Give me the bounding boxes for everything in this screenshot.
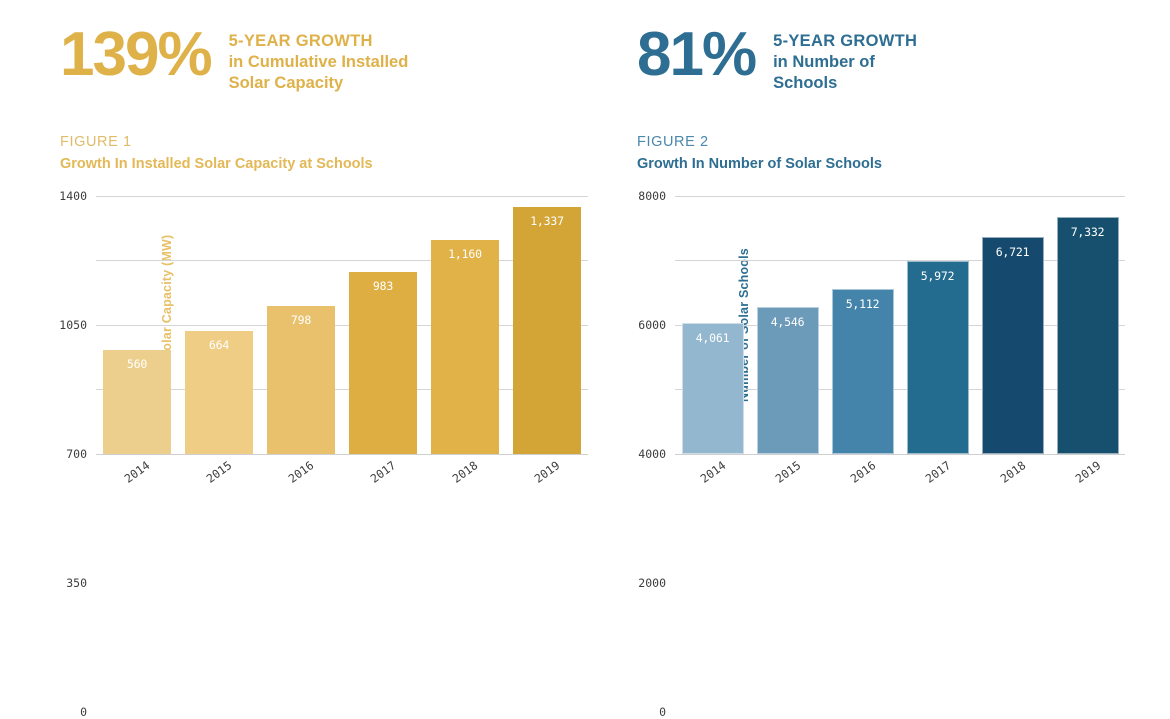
chart-1: Installed Solar Capacity (MW) 0350700105… bbox=[60, 196, 600, 526]
bar-value-label: 983 bbox=[349, 279, 417, 293]
y-axis-tick-label: 4000 bbox=[638, 447, 675, 461]
y-axis-tick-label: 1050 bbox=[59, 318, 96, 332]
bar[interactable]: 4,061 bbox=[682, 323, 744, 454]
bar-slot: 5,9722017 bbox=[900, 196, 975, 454]
figure-caption-2: FIGURE 2 Growth In Number of Solar Schoo… bbox=[637, 104, 1170, 176]
bar-slot: 5602014 bbox=[96, 196, 178, 454]
bar[interactable]: 664 bbox=[185, 331, 253, 453]
bar[interactable]: 1,337 bbox=[513, 207, 581, 453]
bar-slot: 1,1602018 bbox=[424, 196, 506, 454]
y-axis-tick-label: 8000 bbox=[638, 189, 675, 203]
figure-title-2: Growth In Number of Solar Schools bbox=[637, 154, 1170, 176]
bar-value-label: 5,972 bbox=[908, 269, 968, 283]
bar-value-label: 7,332 bbox=[1058, 225, 1118, 239]
bar-value-label: 1,160 bbox=[431, 247, 499, 261]
bar-value-label: 6,721 bbox=[983, 245, 1043, 259]
headline-text-left: 5-YEAR GROWTH in Cumulative Installed So… bbox=[211, 26, 409, 94]
headline-line1: 5-YEAR GROWTH bbox=[773, 31, 917, 52]
x-axis-tick-label: 2015 bbox=[772, 458, 803, 486]
x-axis-tick-label: 2017 bbox=[922, 458, 953, 486]
headline-line3: Schools bbox=[773, 73, 917, 94]
stat-percent-schools: 81% bbox=[637, 26, 755, 85]
headline-line3: Solar Capacity bbox=[229, 73, 409, 94]
y-axis-tick-label: 0 bbox=[80, 705, 96, 719]
bar-slot: 5,1122016 bbox=[825, 196, 900, 454]
y-axis-tick-label: 700 bbox=[66, 447, 96, 461]
bar-slot: 6,7212018 bbox=[975, 196, 1050, 454]
bar[interactable]: 6,721 bbox=[982, 237, 1044, 454]
chart-2: Number of Solar Schools 0200040006000800… bbox=[637, 196, 1137, 526]
bar-value-label: 560 bbox=[103, 357, 171, 371]
bar-series: 56020146642015798201698320171,16020181,3… bbox=[96, 196, 588, 454]
bar-value-label: 798 bbox=[267, 313, 335, 327]
bar-value-label: 4,061 bbox=[683, 331, 743, 345]
headline-right: 81% 5-YEAR GROWTH in Number of Schools bbox=[637, 0, 1170, 104]
bar-value-label: 5,112 bbox=[833, 297, 893, 311]
figure-title-1: Growth In Installed Solar Capacity at Sc… bbox=[60, 154, 615, 176]
headline-line2: in Number of bbox=[773, 52, 917, 73]
infographic-root: 139% 5-YEAR GROWTH in Cumulative Install… bbox=[0, 0, 1170, 544]
x-axis-tick-label: 2017 bbox=[368, 458, 399, 486]
plot-area-2: 020004000600080004,06120144,54620155,112… bbox=[675, 196, 1125, 454]
gridline: 0 bbox=[96, 454, 588, 455]
x-axis-tick-label: 2019 bbox=[1072, 458, 1103, 486]
bar-value-label: 4,546 bbox=[758, 315, 818, 329]
x-axis-tick-label: 2015 bbox=[204, 458, 235, 486]
figure-number-1: FIGURE 1 bbox=[60, 132, 615, 154]
bar-value-label: 664 bbox=[185, 338, 253, 352]
bar-series: 4,06120144,54620155,11220165,97220176,72… bbox=[675, 196, 1125, 454]
bar-slot: 4,0612014 bbox=[675, 196, 750, 454]
bar[interactable]: 1,160 bbox=[431, 240, 499, 454]
bar[interactable]: 4,546 bbox=[757, 307, 819, 454]
y-axis-tick-label: 1400 bbox=[59, 189, 96, 203]
stat-percent-capacity: 139% bbox=[60, 26, 211, 85]
bar[interactable]: 5,112 bbox=[832, 289, 894, 454]
figure-caption-1: FIGURE 1 Growth In Installed Solar Capac… bbox=[60, 104, 615, 176]
x-axis-tick-label: 2018 bbox=[450, 458, 481, 486]
plot-area-1: 0350700105014005602014664201579820169832… bbox=[96, 196, 588, 454]
x-axis-tick-label: 2016 bbox=[847, 458, 878, 486]
panel-solar-capacity: 139% 5-YEAR GROWTH in Cumulative Install… bbox=[0, 0, 615, 544]
headline-text-right: 5-YEAR GROWTH in Number of Schools bbox=[755, 26, 917, 94]
bar-slot: 7,3322019 bbox=[1050, 196, 1125, 454]
bar[interactable]: 7,332 bbox=[1057, 217, 1119, 453]
headline-left: 139% 5-YEAR GROWTH in Cumulative Install… bbox=[60, 0, 615, 104]
x-axis-tick-label: 2014 bbox=[122, 458, 153, 486]
x-axis-tick-label: 2016 bbox=[286, 458, 317, 486]
bar-slot: 6642015 bbox=[178, 196, 260, 454]
bar-slot: 4,5462015 bbox=[750, 196, 825, 454]
y-axis-tick-label: 0 bbox=[659, 705, 675, 719]
gridline: 0 bbox=[675, 454, 1125, 455]
figure-number-2: FIGURE 2 bbox=[637, 132, 1170, 154]
y-axis-tick-label: 2000 bbox=[638, 576, 675, 590]
bar[interactable]: 798 bbox=[267, 306, 335, 453]
bar[interactable]: 983 bbox=[349, 272, 417, 453]
headline-line2: in Cumulative Installed bbox=[229, 52, 409, 73]
headline-line1: 5-YEAR GROWTH bbox=[229, 31, 409, 52]
bar-slot: 7982016 bbox=[260, 196, 342, 454]
bar-value-label: 1,337 bbox=[513, 214, 581, 228]
bar-slot: 1,3372019 bbox=[506, 196, 588, 454]
bar-slot: 9832017 bbox=[342, 196, 424, 454]
x-axis-tick-label: 2019 bbox=[532, 458, 563, 486]
panel-solar-schools: 81% 5-YEAR GROWTH in Number of Schools F… bbox=[615, 0, 1170, 544]
x-axis-tick-label: 2014 bbox=[697, 458, 728, 486]
bar[interactable]: 5,972 bbox=[907, 261, 969, 454]
y-axis-tick-label: 6000 bbox=[638, 318, 675, 332]
y-axis-tick-label: 350 bbox=[66, 576, 96, 590]
bar[interactable]: 560 bbox=[103, 350, 171, 453]
x-axis-tick-label: 2018 bbox=[997, 458, 1028, 486]
